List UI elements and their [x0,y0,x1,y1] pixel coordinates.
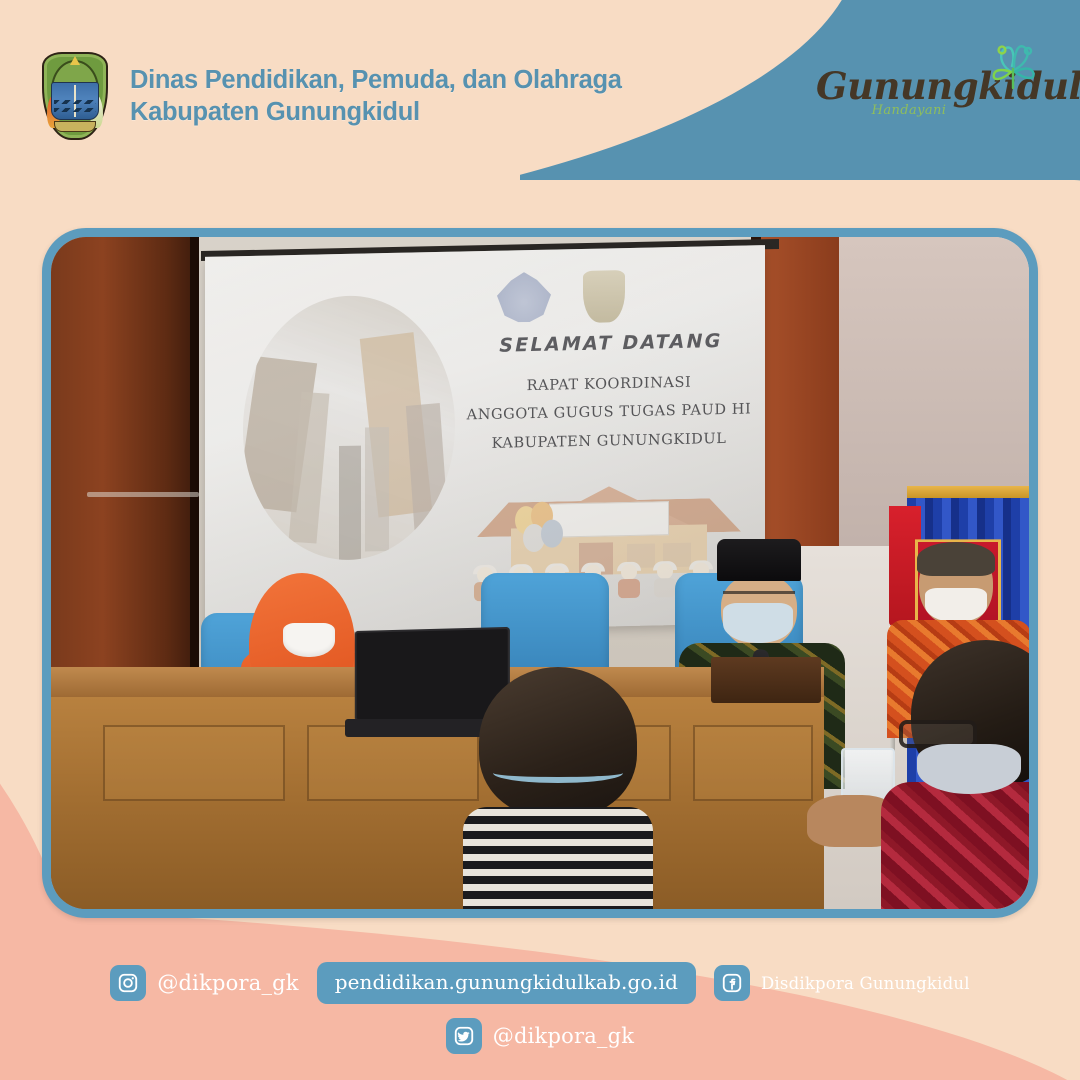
meeting-photo-card: SELAMAT DATANG RAPAT KOORDINASI ANGGOTA … [42,228,1038,918]
facebook-social-item[interactable]: Disdikpora Gunungkidul [714,965,970,1001]
instagram-handle: @dikpora_gk [157,971,298,995]
meeting-photo: SELAMAT DATANG RAPAT KOORDINASI ANGGOTA … [51,237,1029,909]
gunungkidul-regency-crest-icon [42,52,108,140]
social-media-poster: Dinas Pendidikan, Pemuda, dan Olahraga K… [0,0,1080,1080]
website-url-button[interactable]: pendidikan.gunungkidulkab.go.id [317,962,696,1004]
facebook-icon[interactable] [714,965,750,1001]
slide-body: RAPAT KOORDINASI ANGGOTA GUGUS TUGAS PAU… [459,367,759,458]
twitter-social-item[interactable]: @dikpora_gk [446,1018,634,1054]
curtain-rail [907,486,1029,498]
gunungkidul-brand-mark: Gunungkidul Handayani [816,38,1046,124]
table-panel [103,725,285,801]
poster-footer: @dikpora_gk pendidikan.gunungkidulkab.go… [0,962,1080,1054]
butterfly-flourish-icon [982,36,1044,98]
page-title: Dinas Pendidikan, Pemuda, dan Olahraga K… [130,64,622,128]
instagram-icon[interactable] [110,965,146,1001]
skyscraper-city-circle-photo [243,294,455,562]
right-wall-wood-trim [761,237,839,546]
desk-box [711,657,821,703]
table-panel [693,725,813,801]
foreground-attendee-right-with-cup [881,640,1029,909]
facebook-page-name: Disdikpora Gunungkidul [761,974,970,993]
org-title-line-2: Kabupaten Gunungkidul [130,96,622,128]
foreground-attendee-center [463,667,653,909]
footer-row-secondary: @dikpora_gk [446,1018,634,1054]
footer-row-primary: @dikpora_gk pendidikan.gunungkidulkab.go… [110,962,969,1004]
twitter-handle: @dikpora_gk [493,1024,634,1048]
slide-logos [497,270,625,325]
poster-header: Dinas Pendidikan, Pemuda, dan Olahraga K… [42,52,622,140]
twitter-icon[interactable] [446,1018,482,1054]
instagram-social-item[interactable]: @dikpora_gk [110,965,298,1001]
org-title-line-1: Dinas Pendidikan, Pemuda, dan Olahraga [130,64,622,96]
gunungkidul-seal-logo [583,270,625,323]
left-wall-trim-line [87,492,199,497]
tut-wuri-handayani-logo [497,272,551,323]
